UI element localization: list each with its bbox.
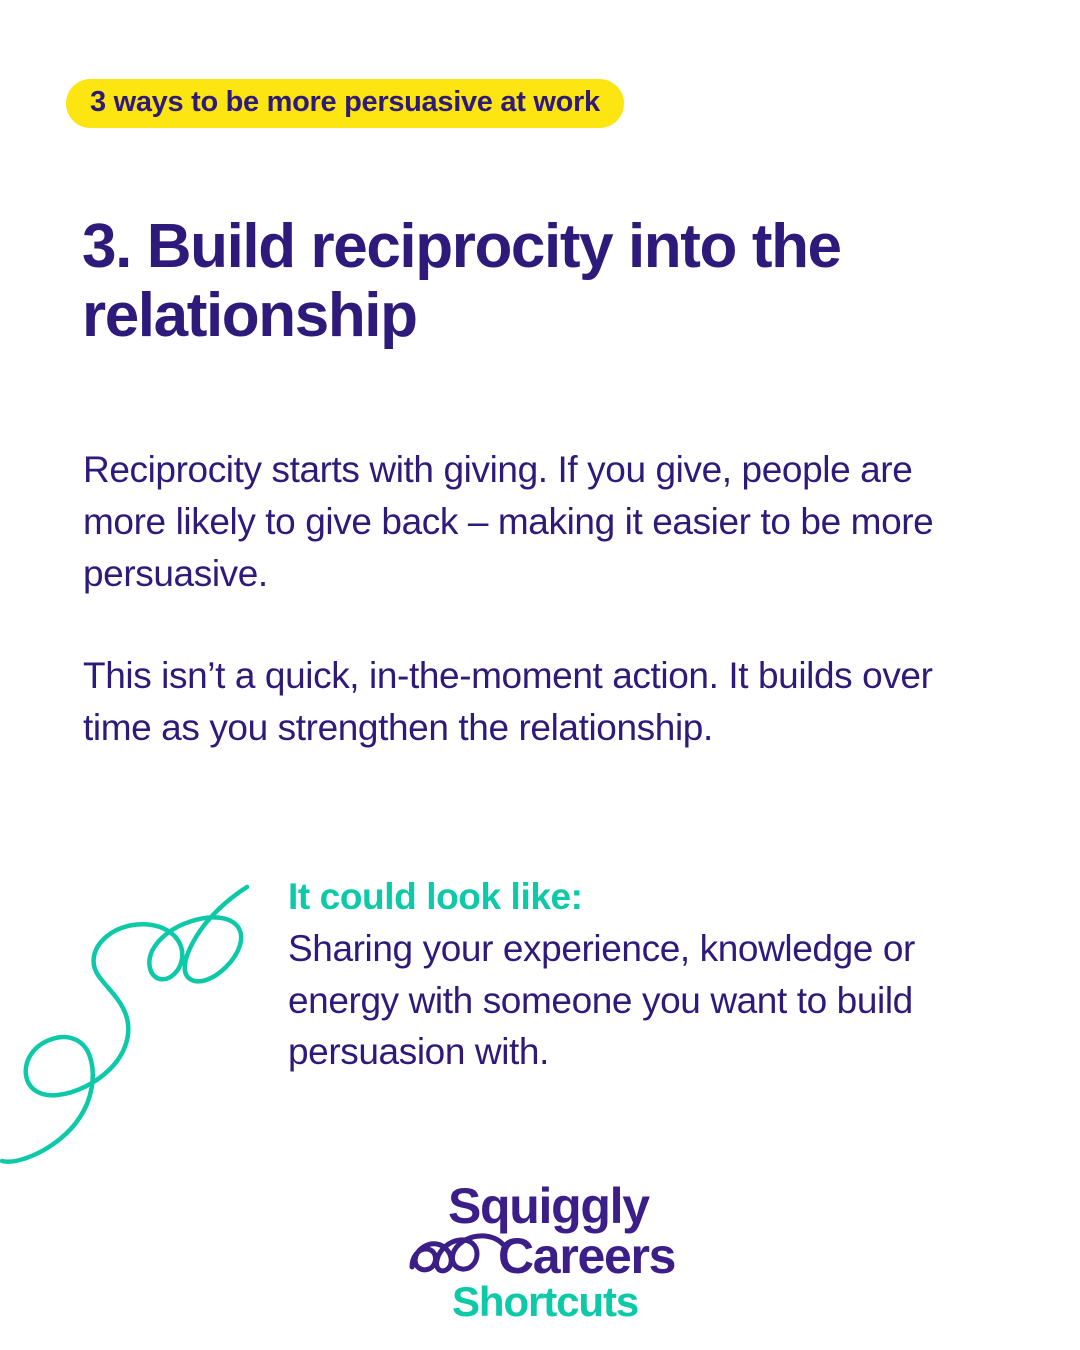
series-title-badge: 3 ways to be more persuasive at work	[66, 79, 624, 128]
callout-block: It could look like: Sharing your experie…	[288, 871, 1008, 1078]
callout-text: Sharing your experience, knowledge or en…	[288, 923, 1008, 1078]
logo-word-careers: Careers	[498, 1231, 675, 1281]
page-title: 3. Build reciprocity into the relationsh…	[82, 212, 962, 351]
teal-squiggle-decoration	[0, 855, 280, 1185]
logo-squiggle-flourish-icon	[408, 1223, 508, 1281]
body-paragraph-2: This isn’t a quick, in-the-moment action…	[83, 650, 983, 754]
body-copy: Reciprocity starts with giving. If you g…	[83, 444, 983, 754]
logo-inner: Squiggly Careers Shortcuts	[390, 1185, 690, 1315]
badge-row: 3 ways to be more persuasive at work	[66, 79, 624, 128]
slide-canvas: 3 ways to be more persuasive at work 3. …	[0, 0, 1080, 1350]
brand-logo: Squiggly Careers Shortcuts	[0, 1185, 1080, 1315]
callout-title: It could look like:	[288, 871, 1008, 923]
logo-word-shortcuts: Shortcuts	[452, 1281, 638, 1323]
squiggle-icon	[0, 855, 280, 1185]
body-paragraph-1: Reciprocity starts with giving. If you g…	[83, 444, 983, 599]
